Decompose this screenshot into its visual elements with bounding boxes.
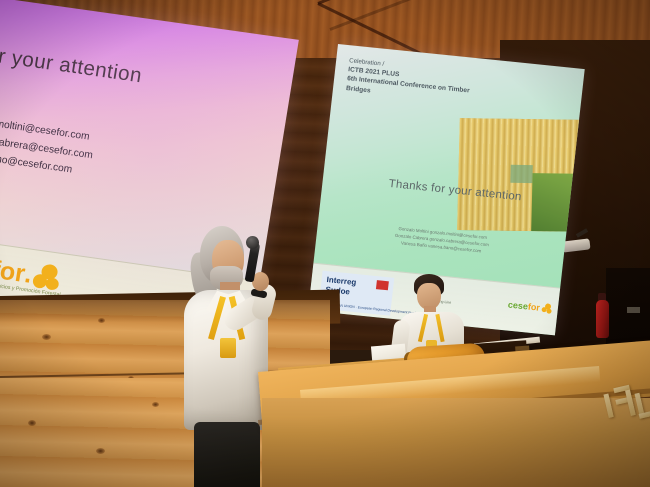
stage-table-front	[262, 398, 650, 487]
cesefor-small-tree-icon	[541, 303, 552, 314]
cesefor-tree-icon	[32, 262, 62, 291]
left-screen-title: for your attention	[0, 42, 144, 88]
cesefor-logo-small: cese for	[507, 300, 552, 314]
speaker-badge	[220, 338, 236, 358]
cesefor-small-green: cese	[507, 300, 528, 311]
exit-sign	[627, 307, 640, 313]
speaker-trousers	[194, 422, 260, 487]
cesefor-small-orange: for	[527, 302, 540, 312]
right-screen-header: Celebration / ICTB 2021 PLUS 6th Interna…	[346, 56, 472, 105]
left-screen-emails: ni, gonzalo.moltini@cesefor.com ra, gonz…	[0, 108, 97, 181]
conference-room-photo: for your attention ni, gonzalo.moltini@c…	[0, 0, 650, 487]
wooden-letters	[605, 384, 650, 424]
building-photo	[457, 118, 580, 232]
cesefor-logo: cese for . Fundación Centro de Servicios…	[0, 249, 62, 292]
fire-extinguisher	[596, 300, 609, 338]
eu-flag-icon	[376, 280, 389, 290]
